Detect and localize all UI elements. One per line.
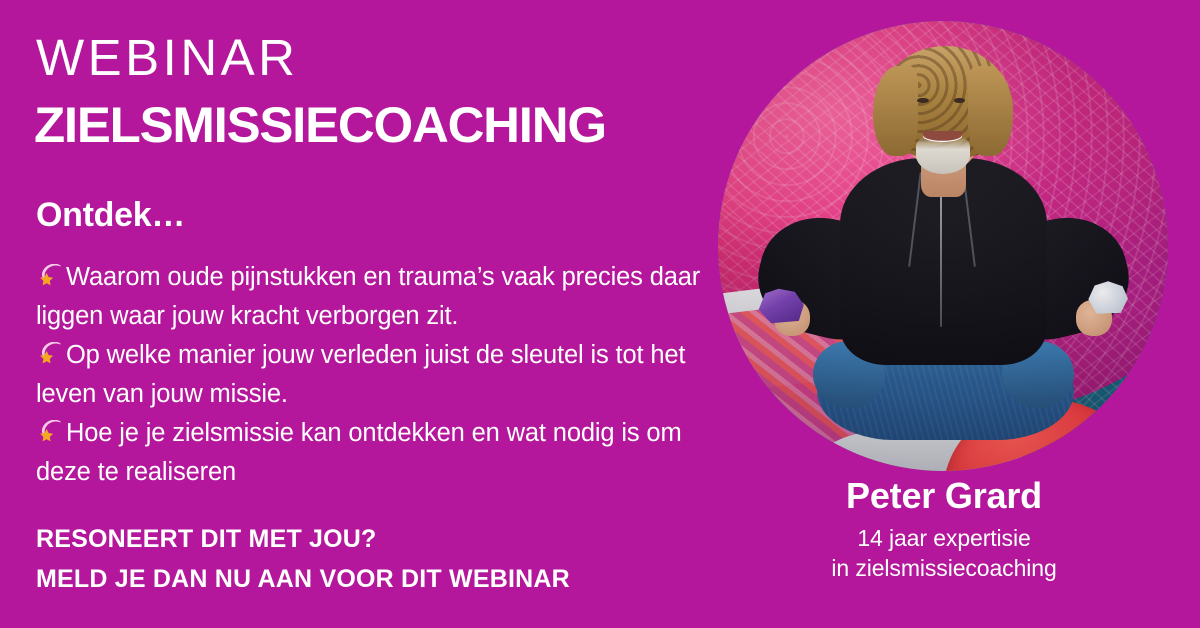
shooting-star-icon [36,342,64,368]
list-item: Op welke manier jouw verleden juist de s… [36,336,726,414]
speaker-portrait [718,21,1168,471]
list-item: Waarom oude pijnstukken en trauma’s vaak… [36,258,726,336]
portrait-illustration [718,21,1168,471]
credential-line-1: 14 jaar expertisie [740,523,1148,553]
cta-line-2: MELD JE DAN NU AAN VOOR DIT WEBINAR [36,559,570,599]
shooting-star-icon [36,420,64,446]
left-text-column: WEBINAR ZIELSMISSIECOACHING Ontdek… Waar… [34,0,734,628]
list-item: Hoe je je zielsmissie kan ontdekken en w… [36,414,726,492]
list-item-text: Hoe je je zielsmissie kan ontdekken en w… [36,419,682,486]
call-to-action: RESONEERT DIT MET JOU? MELD JE DAN NU AA… [36,519,570,599]
webinar-promo-banner: WEBINAR ZIELSMISSIECOACHING Ontdek… Waar… [0,0,1200,628]
speaker-caption: Peter Grard 14 jaar expertisie in zielsm… [740,477,1148,583]
subheading: Ontdek… [36,196,185,235]
list-item-text: Waarom oude pijnstukken en trauma’s vaak… [36,263,700,330]
speaker-name: Peter Grard [740,477,1148,515]
page-title: ZIELSMISSIECOACHING [34,100,606,150]
kicker-label: WEBINAR [36,32,299,83]
speaker-credentials: 14 jaar expertisie in zielsmissiecoachin… [740,523,1148,583]
cta-line-1: RESONEERT DIT MET JOU? [36,519,570,559]
credential-line-2: in zielsmissiecoaching [740,553,1148,583]
photo-hair-left [873,66,918,156]
benefits-list: Waarom oude pijnstukken en trauma’s vaak… [36,258,726,492]
shooting-star-icon [36,264,64,290]
list-item-text: Op welke manier jouw verleden juist de s… [36,341,685,408]
